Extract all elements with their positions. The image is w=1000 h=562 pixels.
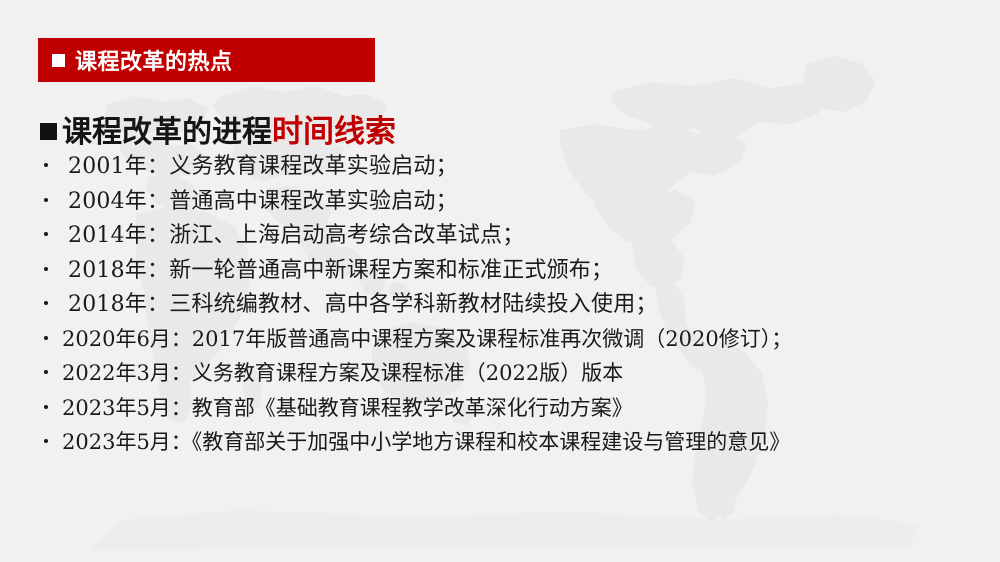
bullet-dot-icon bbox=[44, 336, 48, 340]
list-item: 2020年6月：2017年版普通高中课程方案及课程标准再次微调（2020修订）； bbox=[44, 329, 984, 364]
list-item-label: 2004年：普通高中课程改革实验启动； bbox=[68, 191, 458, 213]
list-item-label: 2023年5月：教育部《基础教育课程教学改革深化行动方案》 bbox=[62, 398, 633, 419]
list-item-label: 2020年6月：2017年版普通高中课程方案及课程标准再次微调（2020修订）； bbox=[62, 329, 792, 350]
list-item: 2018年：三科统编教材、高中各学科新教材陆续投入使用； bbox=[44, 294, 984, 329]
page-title-accent: 时间线索 bbox=[272, 106, 396, 151]
banner-title-text: 课程改革的热点 bbox=[75, 44, 233, 76]
page-title: 课程改革的进程 时间线索 bbox=[40, 106, 396, 151]
bullet-dot-icon bbox=[44, 301, 48, 305]
list-item: 2004年：普通高中课程改革实验启动； bbox=[44, 191, 984, 226]
bullet-dot-icon bbox=[44, 163, 48, 167]
bullet-dot-icon bbox=[44, 267, 48, 271]
list-item: 2023年5月：《教育部关于加强中小学地方课程和校本课程建设与管理的意见》 bbox=[44, 432, 984, 467]
list-item: 2001年：义务教育课程改革实验启动； bbox=[44, 156, 984, 191]
list-item-label: 2023年5月：《教育部关于加强中小学地方课程和校本课程建设与管理的意见》 bbox=[62, 432, 790, 453]
list-item: 2018年：新一轮普通高中新课程方案和标准正式颁布； bbox=[44, 260, 984, 295]
list-item-label: 2014年：浙江、上海启动高考综合改革试点； bbox=[68, 225, 524, 247]
page-title-primary: 课程改革的进程 bbox=[62, 107, 272, 151]
bullet-dot-icon bbox=[44, 439, 48, 443]
slide-canvas: 课程改革的热点 课程改革的进程 时间线索 2001年：义务教育课程改革实验启动；… bbox=[0, 0, 1000, 562]
square-bullet-icon bbox=[52, 54, 65, 67]
section-title-banner: 课程改革的热点 bbox=[38, 38, 375, 82]
list-item: 2022年3月：义务教育课程方案及课程标准（2022版）版本 bbox=[44, 363, 984, 398]
square-bullet-icon bbox=[40, 123, 57, 140]
bullet-dot-icon bbox=[44, 405, 48, 409]
list-item: 2023年5月：教育部《基础教育课程教学改革深化行动方案》 bbox=[44, 398, 984, 433]
bullet-dot-icon bbox=[44, 198, 48, 202]
list-item-label: 2001年：义务教育课程改革实验启动； bbox=[68, 156, 458, 178]
list-item-label: 2018年：新一轮普通高中新课程方案和标准正式颁布； bbox=[68, 260, 613, 282]
timeline-list: 2001年：义务教育课程改革实验启动； 2004年：普通高中课程改革实验启动； … bbox=[44, 156, 984, 467]
list-item: 2014年：浙江、上海启动高考综合改革试点； bbox=[44, 225, 984, 260]
list-item-label: 2018年：三科统编教材、高中各学科新教材陆续投入使用； bbox=[68, 294, 658, 316]
list-item-label: 2022年3月：义务教育课程方案及课程标准（2022版）版本 bbox=[62, 363, 623, 384]
bullet-dot-icon bbox=[44, 232, 48, 236]
bullet-dot-icon bbox=[44, 370, 48, 374]
